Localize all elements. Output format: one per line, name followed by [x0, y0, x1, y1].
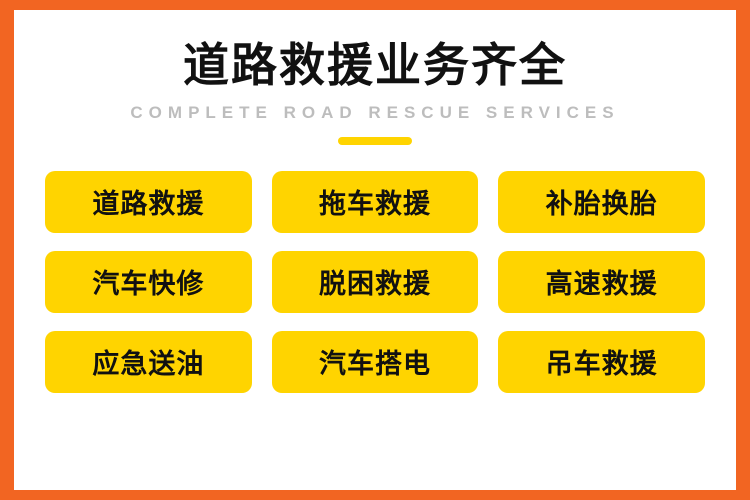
- service-chip-7[interactable]: 应急送油: [45, 331, 252, 393]
- page-title: 道路救援业务齐全: [14, 40, 736, 91]
- poster-inner: 道路救援业务齐全 COMPLETE ROAD RESCUE SERVICES 道…: [14, 10, 736, 490]
- title-block: 道路救援业务齐全 COMPLETE ROAD RESCUE SERVICES: [14, 10, 736, 145]
- service-chip-label: 道路救援: [92, 182, 204, 221]
- service-chip-label: 脱困救援: [319, 262, 431, 301]
- service-chip-label: 应急送油: [92, 342, 204, 381]
- title-divider: [338, 137, 412, 145]
- service-grid: 道路救援 拖车救援 补胎换胎 汽车快修 脱困救援 高速救援 应急送油 汽车搭电: [45, 171, 705, 393]
- page-subtitle: COMPLETE ROAD RESCUE SERVICES: [14, 103, 736, 123]
- service-chip-8[interactable]: 汽车搭电: [272, 331, 479, 393]
- service-chip-3[interactable]: 补胎换胎: [498, 171, 705, 233]
- service-chip-1[interactable]: 道路救援: [45, 171, 252, 233]
- service-chip-label: 拖车救援: [319, 182, 431, 221]
- service-chip-9[interactable]: 吊车救援: [498, 331, 705, 393]
- service-chip-label: 汽车快修: [92, 262, 204, 301]
- service-chip-label: 补胎换胎: [546, 182, 658, 221]
- service-chip-label: 吊车救援: [546, 342, 658, 381]
- service-chip-6[interactable]: 高速救援: [498, 251, 705, 313]
- service-chip-label: 汽车搭电: [319, 342, 431, 381]
- service-chip-label: 高速救援: [546, 262, 658, 301]
- service-chip-2[interactable]: 拖车救援: [272, 171, 479, 233]
- poster-frame: 道路救援业务齐全 COMPLETE ROAD RESCUE SERVICES 道…: [0, 0, 750, 500]
- service-chip-4[interactable]: 汽车快修: [45, 251, 252, 313]
- service-chip-5[interactable]: 脱困救援: [272, 251, 479, 313]
